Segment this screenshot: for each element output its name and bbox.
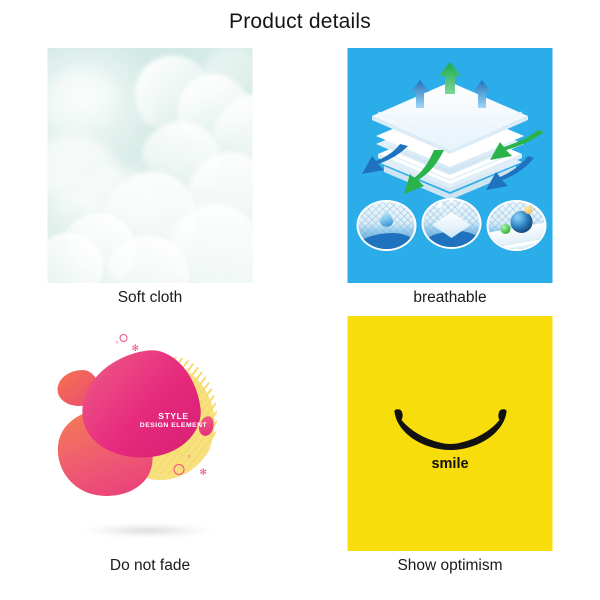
caption-soft-cloth: Soft cloth — [0, 289, 300, 307]
layered-diamond-icon — [422, 198, 482, 249]
blob-text-style: STYLE — [134, 412, 214, 422]
fabric-layers-diagram — [348, 54, 553, 204]
blob-overlay-text: STYLE DESIGN ELEMENT — [134, 412, 214, 430]
caption-do-not-fade: Do not fade — [0, 557, 300, 575]
detail-cell-breathable[interactable]: breathable — [300, 46, 600, 314]
blob-shadow — [82, 524, 214, 537]
show-optimism-image: smile — [348, 316, 553, 551]
smile-label: smile — [348, 456, 553, 472]
soft-cloth-image — [48, 48, 253, 283]
smile-mouth-icon — [390, 408, 510, 454]
breathable-image — [348, 48, 553, 283]
caption-breathable: breathable — [300, 289, 600, 307]
product-detail-grid: Soft cloth — [0, 46, 600, 600]
caption-show-optimism: Show optimism — [300, 557, 600, 575]
blob-text-design-element: DESIGN ELEMENT — [134, 422, 214, 430]
page-title: Product details — [0, 10, 600, 34]
globe-sphere-icon — [487, 200, 547, 251]
detail-cell-do-not-fade[interactable]: ◦ ✻ ✻ ✦ ◦ ✻ STYLE DESIGN ELEMENT Do not … — [0, 314, 300, 582]
detail-cell-show-optimism[interactable]: smile Show optimism — [300, 314, 600, 582]
water-droplet-icon — [357, 200, 417, 251]
detail-cell-soft-cloth[interactable]: Soft cloth — [0, 46, 300, 314]
do-not-fade-image: ◦ ✻ ✻ ✦ ◦ ✻ STYLE DESIGN ELEMENT — [48, 316, 253, 551]
